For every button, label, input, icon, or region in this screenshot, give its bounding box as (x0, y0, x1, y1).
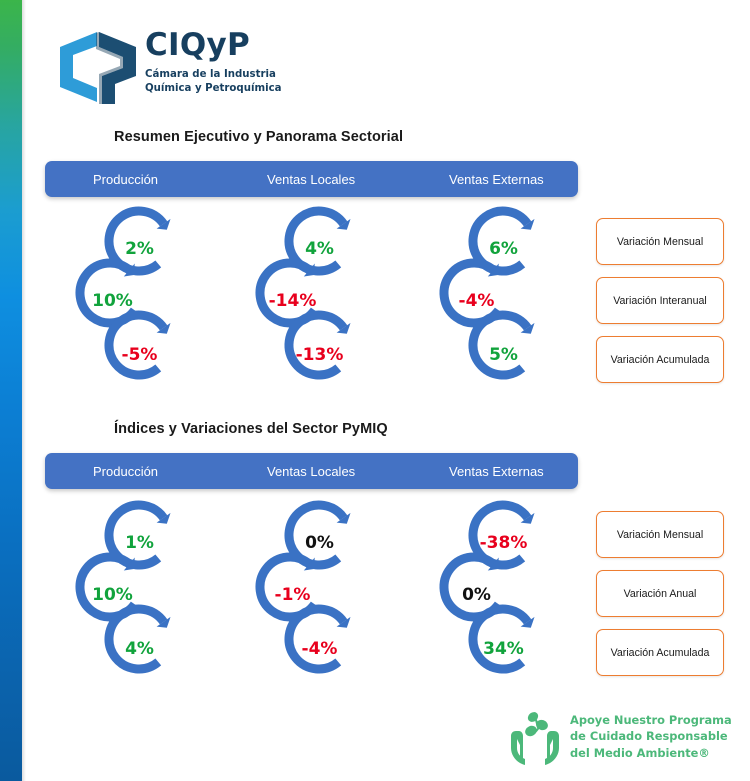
legend-label: Variación Interanual (613, 295, 706, 307)
percentage-value: -13% (244, 345, 369, 365)
arrow-chain-produccion-s1: 2%10%-5% (64, 203, 189, 383)
infographic-page: CIQyP Cámara de la Industria Química y P… (0, 0, 750, 781)
percentage-value: 6% (428, 239, 553, 259)
arrow-chain-ventas-locales-s2: 0%-1%-4% (244, 497, 369, 677)
logo-subtitle: Cámara de la Industria Química y Petroqu… (145, 68, 335, 95)
footer-line-3: del Medio Ambiente® (570, 745, 732, 761)
ciqyp-logo: CIQyP Cámara de la Industria Química y P… (55, 26, 325, 110)
percentage-value: -1% (244, 585, 369, 605)
percentage-value: -38% (428, 533, 553, 553)
arrow-chain-ventas-locales-s1: 4%-14%-13% (244, 203, 369, 383)
legend-variacion-mensual-s1: Variación Mensual (596, 218, 724, 265)
percentage-value: -4% (428, 291, 553, 311)
percentage-value: 0% (244, 533, 369, 553)
arrow-chain-ventas-externas-s1: 6%-4%5% (428, 203, 553, 383)
responsible-care-text: Apoye Nuestro Programa de Cuidado Respon… (570, 712, 732, 761)
column-header-produccion-s1: Producción (93, 172, 158, 187)
legend-label: Variación Acumulada (611, 354, 710, 366)
hands-holding-leaves-icon (506, 709, 564, 767)
footer-line-2: de Cuidado Responsable (570, 728, 732, 744)
percentage-value: 2% (64, 239, 189, 259)
column-header-ventas-externas-s1: Ventas Externas (449, 172, 544, 187)
section-title-indices-pymiq: Índices y Variaciones del Sector PyMIQ (114, 421, 388, 437)
percentage-value: -5% (64, 345, 189, 365)
legend-label: Variación Mensual (617, 236, 703, 248)
percentage-value: -14% (244, 291, 369, 311)
logo-subtitle-line2: Química y Petroquímica (145, 82, 335, 96)
column-header-produccion-s2: Producción (93, 464, 158, 479)
column-header-ventas-locales-s1: Ventas Locales (267, 172, 355, 187)
percentage-value: 4% (64, 639, 189, 659)
legend-variacion-interanual-s1: Variación Interanual (596, 277, 724, 324)
percentage-value: 34% (428, 639, 553, 659)
section-title-resumen-ejecutivo: Resumen Ejecutivo y Panorama Sectorial (114, 129, 403, 145)
left-stripe-shadow (22, 0, 26, 781)
responsible-care-badge: Apoye Nuestro Programa de Cuidado Respon… (506, 707, 742, 769)
legend-variacion-anual-s2: Variación Anual (596, 570, 724, 617)
legend-label: Variación Anual (624, 588, 697, 600)
footer-line-1: Apoye Nuestro Programa (570, 712, 732, 728)
legend-variacion-mensual-s2: Variación Mensual (596, 511, 724, 558)
column-header-bar-section1: Producción Ventas Locales Ventas Externa… (45, 161, 578, 197)
percentage-value: 1% (64, 533, 189, 553)
percentage-value: 10% (64, 291, 189, 311)
percentage-value: -4% (244, 639, 369, 659)
legend-label: Variación Mensual (617, 529, 703, 541)
column-header-bar-section2: Producción Ventas Locales Ventas Externa… (45, 453, 578, 489)
ciqyp-logo-text: CIQyP Cámara de la Industria Química y P… (145, 30, 335, 95)
ciqyp-logo-mark-icon (55, 26, 141, 110)
logo-title: CIQyP (145, 30, 335, 61)
legend-label: Variación Acumulada (611, 647, 710, 659)
legend-variacion-acumulada-s1: Variación Acumulada (596, 336, 724, 383)
column-header-ventas-locales-s2: Ventas Locales (267, 464, 355, 479)
left-gradient-stripe (0, 0, 22, 781)
logo-subtitle-line1: Cámara de la Industria (145, 68, 335, 82)
percentage-value: 4% (244, 239, 369, 259)
percentage-value: 10% (64, 585, 189, 605)
percentage-value: 0% (428, 585, 553, 605)
arrow-chain-produccion-s2: 1%10%4% (64, 497, 189, 677)
arrow-chain-ventas-externas-s2: -38%0%34% (428, 497, 553, 677)
column-header-ventas-externas-s2: Ventas Externas (449, 464, 544, 479)
percentage-value: 5% (428, 345, 553, 365)
legend-variacion-acumulada-s2: Variación Acumulada (596, 629, 724, 676)
